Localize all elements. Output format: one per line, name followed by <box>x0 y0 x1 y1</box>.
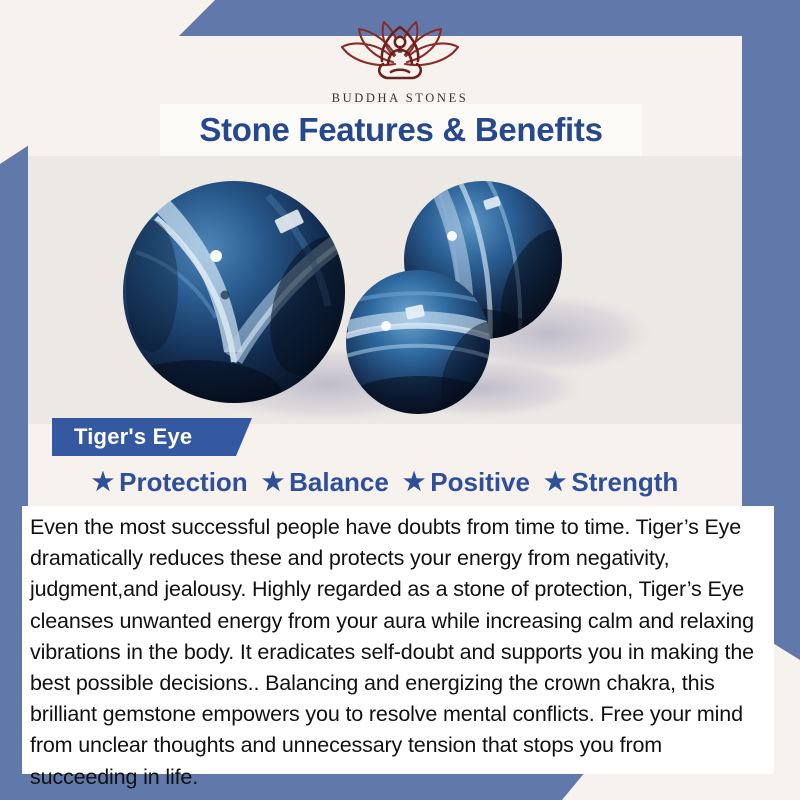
star-icon: ★ <box>262 470 284 495</box>
benefit-label: Balance <box>289 467 389 498</box>
benefit-item-0: ★ Protection <box>92 467 262 498</box>
benefit-label: Strength <box>571 467 678 498</box>
description-text: Even the most successful people have dou… <box>30 512 762 793</box>
tigers-eye-spheres-illustration <box>28 156 742 424</box>
star-icon: ★ <box>544 470 566 495</box>
benefit-item-3: ★ Strength <box>544 467 678 498</box>
benefit-label: Protection <box>119 467 248 498</box>
stone-name-label: Tiger's Eye <box>74 424 192 450</box>
hero-image <box>28 156 742 424</box>
benefits-row: ★ Protection ★ Balance ★ Positive ★ Stre… <box>28 462 742 502</box>
description-panel: Even the most successful people have dou… <box>22 506 774 774</box>
benefit-label: Positive <box>430 467 530 498</box>
benefit-item-2: ★ Positive <box>403 467 544 498</box>
brand-logo: BUDDHA STONES <box>0 14 800 106</box>
page-title: Stone Features & Benefits <box>199 111 602 149</box>
lotus-meditation-figure-icon <box>333 14 467 86</box>
stone-name-tag: Tiger's Eye <box>52 418 252 456</box>
poster-root: BUDDHA STONES Stone Features & Benefits <box>0 0 800 800</box>
star-icon: ★ <box>403 470 425 495</box>
title-banner: Stone Features & Benefits <box>160 104 642 156</box>
benefit-item-1: ★ Balance <box>262 467 403 498</box>
star-icon: ★ <box>92 470 114 495</box>
